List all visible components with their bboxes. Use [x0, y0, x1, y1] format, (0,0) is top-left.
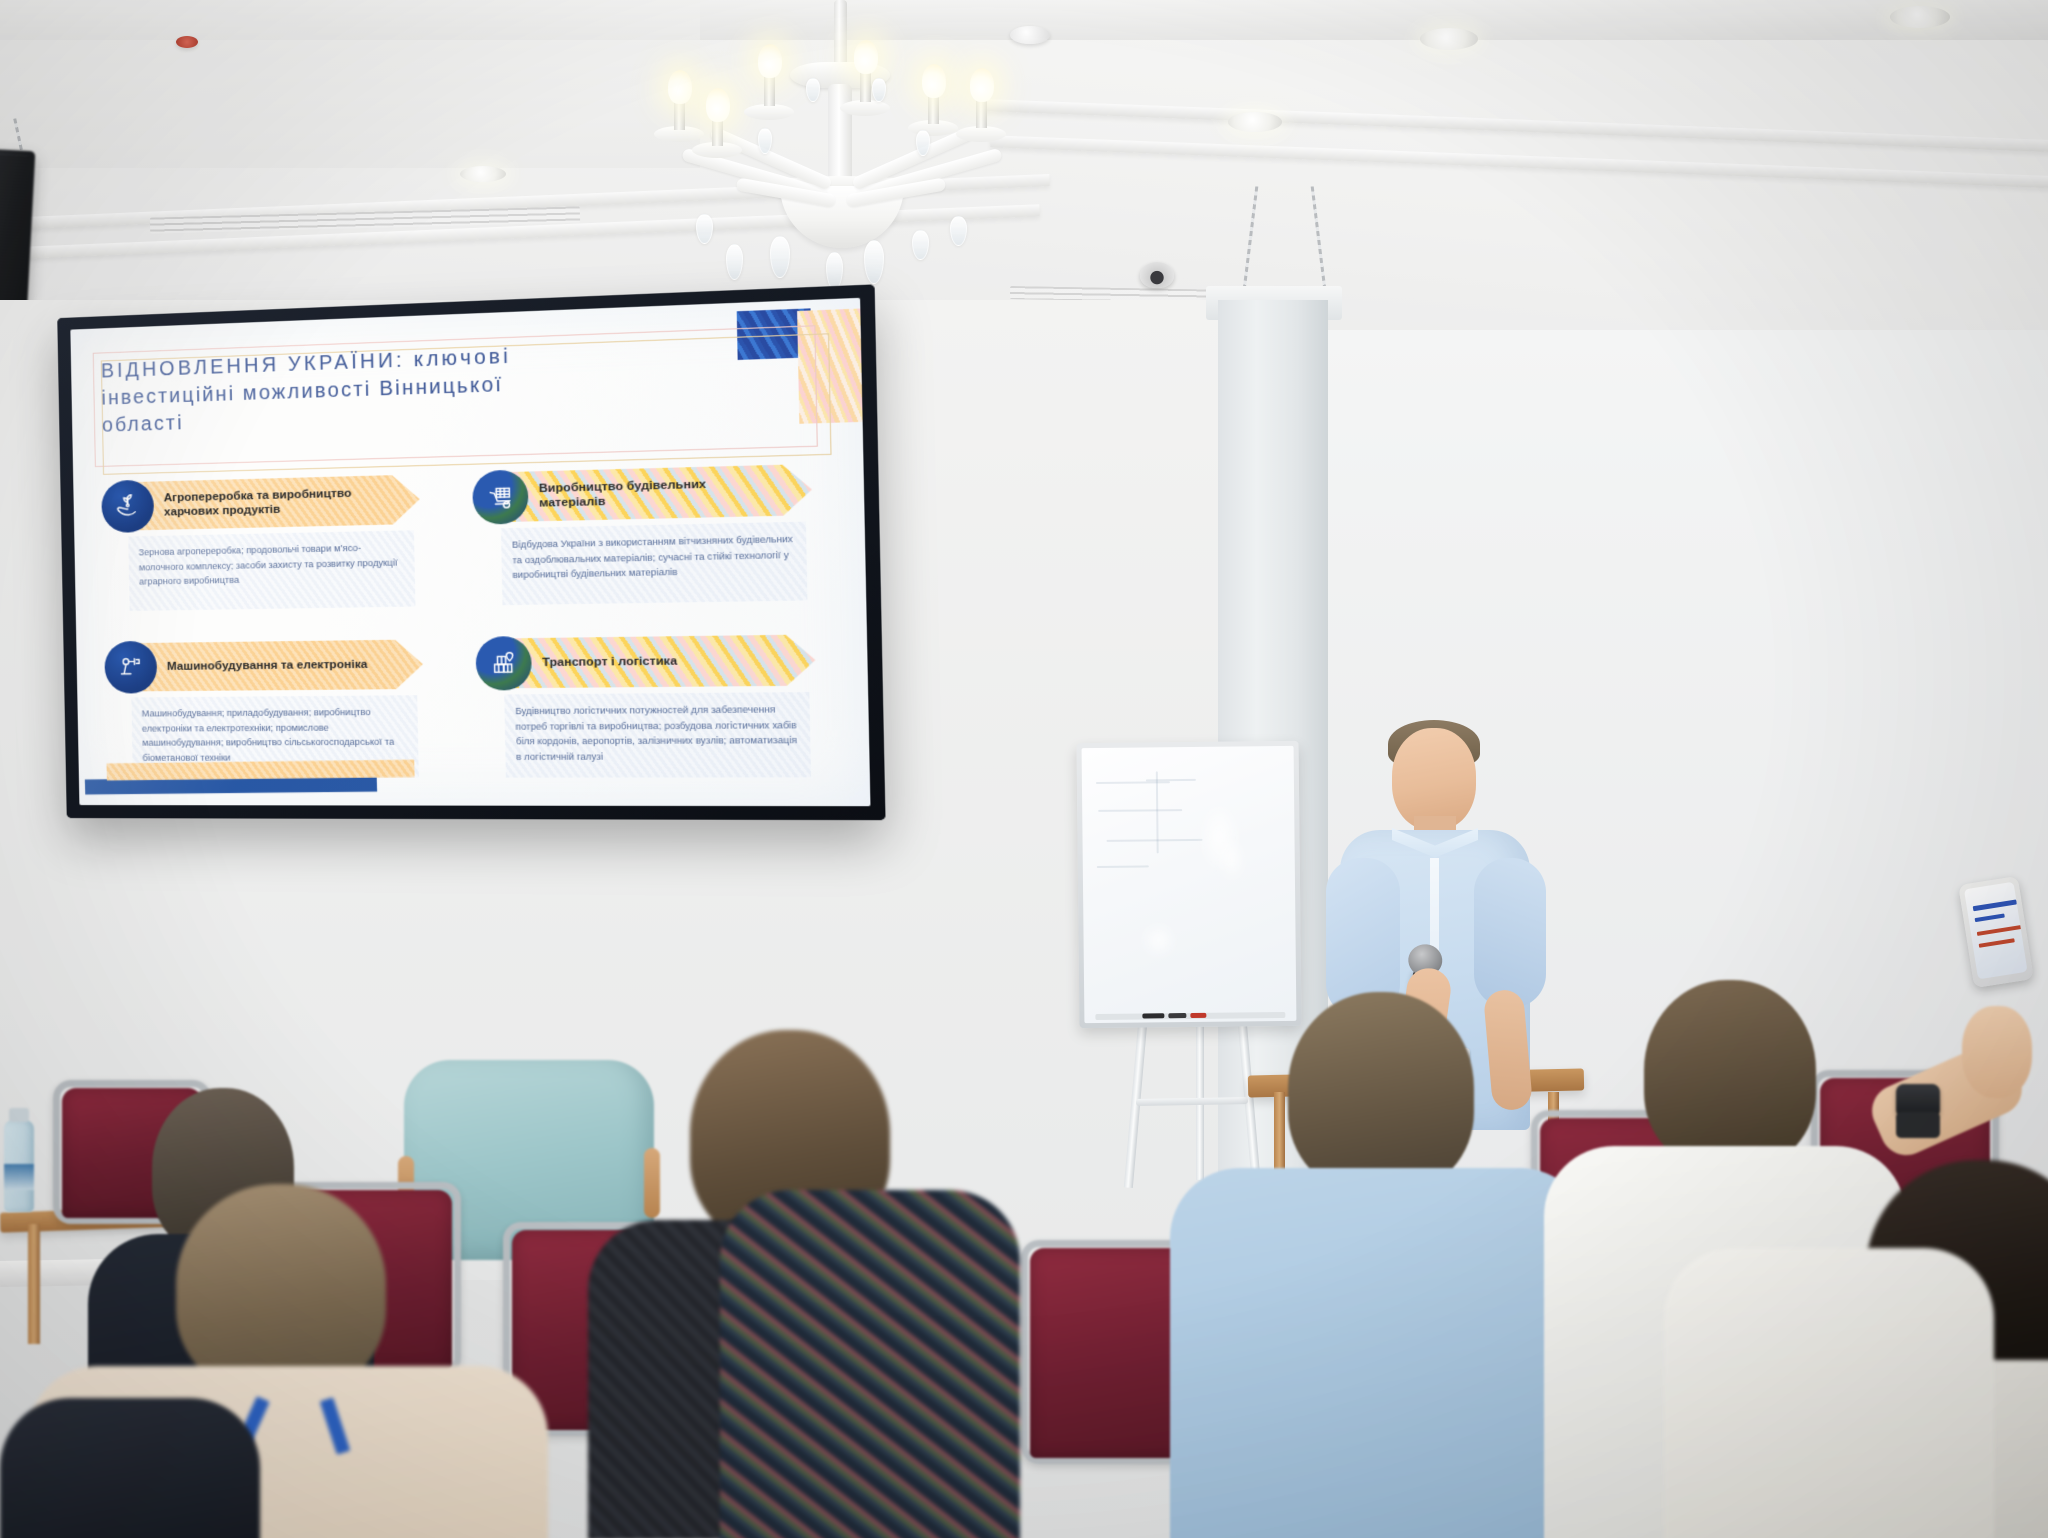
robotic-arm-icon [104, 641, 157, 694]
ceiling-recess-left [0, 0, 700, 168]
slide-card-machinery: Машинобудування та електроніка Машинобуд… [104, 637, 425, 777]
chandelier-candle [764, 76, 775, 106]
audience-member [720, 1150, 1020, 1538]
card-title: Агропереробка та виробництво харчових пр… [164, 485, 386, 520]
whiteboard[interactable] [1077, 741, 1302, 1028]
card-title: Транспорт і логістика [542, 654, 677, 671]
audience-head [1288, 992, 1474, 1192]
whiteboard-glare [1145, 927, 1171, 953]
chandelier-crystal [950, 216, 967, 246]
slide-card-agro: Агропереробка та виробництво харчових пр… [101, 472, 422, 611]
chandelier-bulb [970, 68, 994, 102]
card-title: Машинобудування та електроніка [167, 657, 368, 674]
chandelier-bulb [854, 40, 878, 74]
audience-torso [1170, 1168, 1590, 1538]
chandelier-candle [860, 72, 871, 102]
smartwatch-band [1896, 1112, 1940, 1138]
whiteboard-erased-mark [1097, 865, 1149, 868]
slide-content: ВІДНОВЛЕННЯ УКРАЇНИ: ключові інвестиційн… [70, 298, 870, 806]
boxes-location-pin-icon [475, 636, 532, 691]
phone-screen [1964, 882, 2028, 980]
audience-member [1664, 1248, 1994, 1538]
chandelier-cup [744, 104, 794, 120]
chandelier-crystal [912, 230, 929, 260]
slide-card-logistics: Транспорт і логістика Будівництво логіст… [475, 632, 817, 777]
ceiling-downlight-4 [1890, 6, 1950, 28]
chandelier-candle [674, 100, 685, 130]
chandelier-cup [840, 100, 890, 116]
card-title: Виробництво будівельних матеріалів [539, 475, 776, 511]
chandelier-bulb [922, 64, 946, 98]
phone-screen-content [1977, 925, 2023, 936]
phone-screen-content [1975, 913, 2005, 922]
marker-black[interactable] [1142, 1013, 1164, 1018]
chandelier-crystal [872, 78, 886, 102]
chandelier-cup [956, 126, 1006, 142]
audience-torso [1664, 1248, 1994, 1538]
chandelier-candle [976, 98, 987, 128]
whiteboard-erased-mark [1156, 771, 1159, 853]
chandelier-bulb [758, 44, 782, 78]
chandelier [640, 0, 1060, 310]
chandelier-crystal [696, 214, 713, 244]
filming-hand [1962, 1006, 2032, 1098]
fire-sensor-icon [176, 36, 198, 48]
whiteboard-erased-mark [1098, 809, 1182, 812]
phone-screen-content [1979, 938, 2015, 948]
ceiling-downlight-1 [460, 166, 506, 182]
ceiling-downlight-2 [1228, 112, 1282, 132]
chandelier-bulb [668, 70, 692, 104]
card-body: Будівництво логістичних потужностей для … [504, 692, 811, 777]
whiteboard-erased-mark [1146, 779, 1196, 782]
card-header: Виробництво будівельних матеріалів [472, 462, 812, 525]
ceiling-downlight-3 [1420, 28, 1478, 50]
card-header: Машинобудування та електроніка [104, 637, 423, 693]
shirt-button [1431, 900, 1438, 907]
whiteboard-frame [1077, 741, 1302, 1028]
whiteboard-erased-mark [1096, 781, 1170, 784]
chandelier-crystal [864, 240, 884, 284]
presenter-sleeve-left [1474, 858, 1546, 1008]
presenter-head [1392, 728, 1476, 830]
whiteboard-erased-mark [1107, 839, 1203, 842]
bottle-cap [9, 1108, 29, 1122]
card-body: Відбудова України з використанням вітчиз… [501, 522, 807, 606]
chandelier-crystal [770, 236, 790, 278]
audience-member [1178, 992, 1578, 1538]
audience-torso [0, 1398, 260, 1538]
chandelier-crystal [806, 78, 820, 102]
card-header: Агропереробка та виробництво харчових пр… [101, 472, 420, 533]
whiteboard-glare [1223, 842, 1241, 876]
audience-torso [720, 1190, 1020, 1538]
audience-head [1644, 980, 1816, 1168]
chandelier-bulb [706, 88, 730, 122]
chandelier-crystal [826, 252, 843, 290]
whiteboard-surface[interactable] [1082, 746, 1297, 1023]
card-header: Транспорт і логістика [475, 632, 816, 690]
card-body: Зернова агропереробка; продовольчі товар… [128, 530, 415, 611]
decor-bottom-orange-bar [106, 760, 414, 781]
chandelier-candle [928, 94, 939, 124]
slide-card-building: Виробництво будівельних матеріалів Відбу… [472, 462, 814, 606]
phone-screen-content [1973, 899, 2017, 911]
audience-member [0, 1398, 260, 1538]
chandelier-crystal [726, 244, 743, 280]
dome-camera-icon [1140, 262, 1174, 288]
conference-room-photo: ВІДНОВЛЕННЯ УКРАЇНИ: ключові інвестиційн… [0, 0, 2048, 1538]
presentation-screen[interactable]: ВІДНОВЛЕННЯ УКРАЇНИ: ключові інвестиційн… [57, 284, 885, 820]
audience-head [176, 1184, 386, 1394]
